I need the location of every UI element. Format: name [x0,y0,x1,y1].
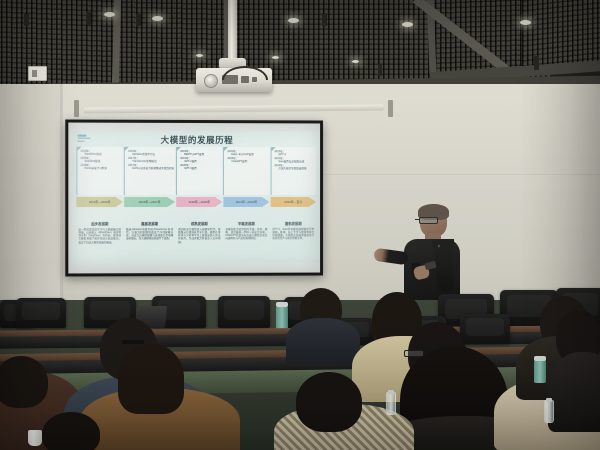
lecture-hall-photo: 大模型的发展历程 2013年： Word2Vec提出 2014年： Seq2Se… [0,0,600,450]
ceiling-downlight [402,22,413,27]
phase-arrow: 2016年—2017年 [124,197,175,207]
phase-arrow-wrap: 2018年—2020年 [176,197,222,210]
projector-lens-icon [204,74,218,88]
audience-member [548,352,600,432]
ceiling-hanger [378,64,382,76]
year-callout: 2023年： GPT-4 2024年： Sora发布及多模态演进 2024年： … [270,147,316,195]
ceiling-downlight [152,16,163,21]
ceiling-downlight [104,12,115,17]
audience-head [0,356,48,408]
callout-event: GAN与自注意力机制推动生成式研究 [128,167,174,170]
green-thermos[interactable] [534,360,546,383]
phase-arrow-wrap: 2013年—2015年 [76,197,123,210]
phase-arrow: 2013年—2015年 [76,197,123,207]
slide-title: 大模型的发展历程 [72,134,320,147]
audience-head [118,344,184,414]
ceiling-hanger [86,12,91,25]
audience-head [42,412,100,450]
audience-member [286,318,360,364]
callout-event: 开源大模型生态加速成熟 [274,167,315,170]
wall-control-panel[interactable] [28,66,47,81]
ceiling-hanger [322,14,327,26]
projector-cable [222,66,268,80]
year-callout: 2018年： BERT与GPT发布 2019年： GPT-2发布 2020年： … [176,147,222,195]
eyeglasses-icon [122,340,144,344]
screen-roller-bracket [74,100,79,117]
presentation-slide: 大模型的发展历程 2013年： Word2Vec提出 2014年： Seq2Se… [72,131,320,264]
ceiling-hanger [24,14,29,26]
ceiling-downlight [288,18,299,23]
year-callout: 2016年： AlphaGo击败李世石 2017年： Transformer架构… [124,147,175,195]
ceiling-downlight [520,20,531,25]
callout-event: Keras深度学习框架 [80,167,122,170]
ceiling [0,0,600,96]
year-callout: 2013年： Word2Vec提出 2014年： Seq2Seq提出 2015年… [76,147,123,195]
green-thermos[interactable] [276,306,288,329]
phase-arrow: 2018年—2020年 [176,197,222,207]
phase-label: 平稳发展期 [223,220,269,225]
ceiling-projector [196,68,272,92]
phase-label: 蓬勃发展期 [270,220,316,225]
phase-label: 奠基发展期 [124,221,175,226]
wall-column-edge [60,84,63,334]
ceiling-downlight [196,54,203,57]
timeline-column: 2021年： DALL·E与CLIP发布 2022年： ChatGPT发布 20… [223,147,269,259]
ceiling-grid-panel [0,0,116,96]
phase-arrow-wrap: 2021年—2022年 [223,197,269,210]
phase-arrow: 2021年—2022年 [223,197,269,207]
phase-description: 预训练语言模型进入规模化时代，参数量从亿级跃升至千亿级，模型在零样本与少样本学习… [176,227,222,259]
water-bottle[interactable] [544,400,554,423]
phase-description: GPT-4、Sora等多模态通用模型不断涌现，推理、长上下文与智能体能力持续增强… [270,227,316,258]
phase-description: 这一阶段是深度学习与大数据融合的开端，以词嵌入（Word2Vec）和序列到序列（… [76,228,123,260]
callout-event: GPT-3发布 [180,167,221,170]
phase-label: 成熟发展期 [176,220,222,225]
callout-event: ChatGPT发布 [227,160,268,163]
timeline-column: 2016年： AlphaGo击败李世石 2017年： Transformer架构… [124,147,175,259]
year-callout: 2021年： DALL·E与CLIP发布 2022年： ChatGPT发布 [223,147,269,195]
timeline-column: 2018年： BERT与GPT发布 2019年： GPT-2发布 2020年： … [176,147,222,259]
timeline-column: 2013年： Word2Vec提出 2014年： Seq2Seq提出 2015年… [76,147,123,260]
audience-head [296,372,362,432]
screen-roller-bracket [388,100,393,117]
phase-description: 多模态能力成为新的主线，文本、图像、语音被统一到同一表征空间中，ChatGPT的… [223,227,269,259]
ceiling-hanger [136,14,141,26]
ceiling-hanger [534,56,539,70]
phase-arrow-wrap: 2016年—2017年 [124,197,175,210]
phase-arrow-wrap: 2023年—至今 [270,197,316,210]
phase-arrow: 2023年—至今 [270,197,316,207]
timeline-column: 2023年： GPT-4 2024年： Sora发布及多模态演进 2024年： … [270,147,316,259]
lecture-chair[interactable] [218,296,270,328]
timeline-columns: 2013年： Word2Vec提出 2014年： Seq2Seq提出 2015年… [76,147,316,260]
phase-label: 起步发展期 [76,221,123,226]
projector-mount-pole [228,0,237,62]
projection-screen: 大模型的发展历程 2013年： Word2Vec提出 2014年： Seq2Se… [65,119,323,276]
water-bottle[interactable] [386,392,396,415]
lecture-chair[interactable] [460,314,510,344]
presenter-right-arm [434,245,454,292]
eyeglasses-icon [419,217,438,224]
lecture-chair[interactable] [16,298,66,328]
paper-cup[interactable] [28,430,42,446]
wall-left-column [0,84,62,334]
ceiling-downlight [272,56,279,59]
ceiling-downlight [352,60,359,63]
phase-description: 随着AlphaGo的胜利和Transformer的问世，注意力机制彻底改变了序列… [124,228,175,260]
